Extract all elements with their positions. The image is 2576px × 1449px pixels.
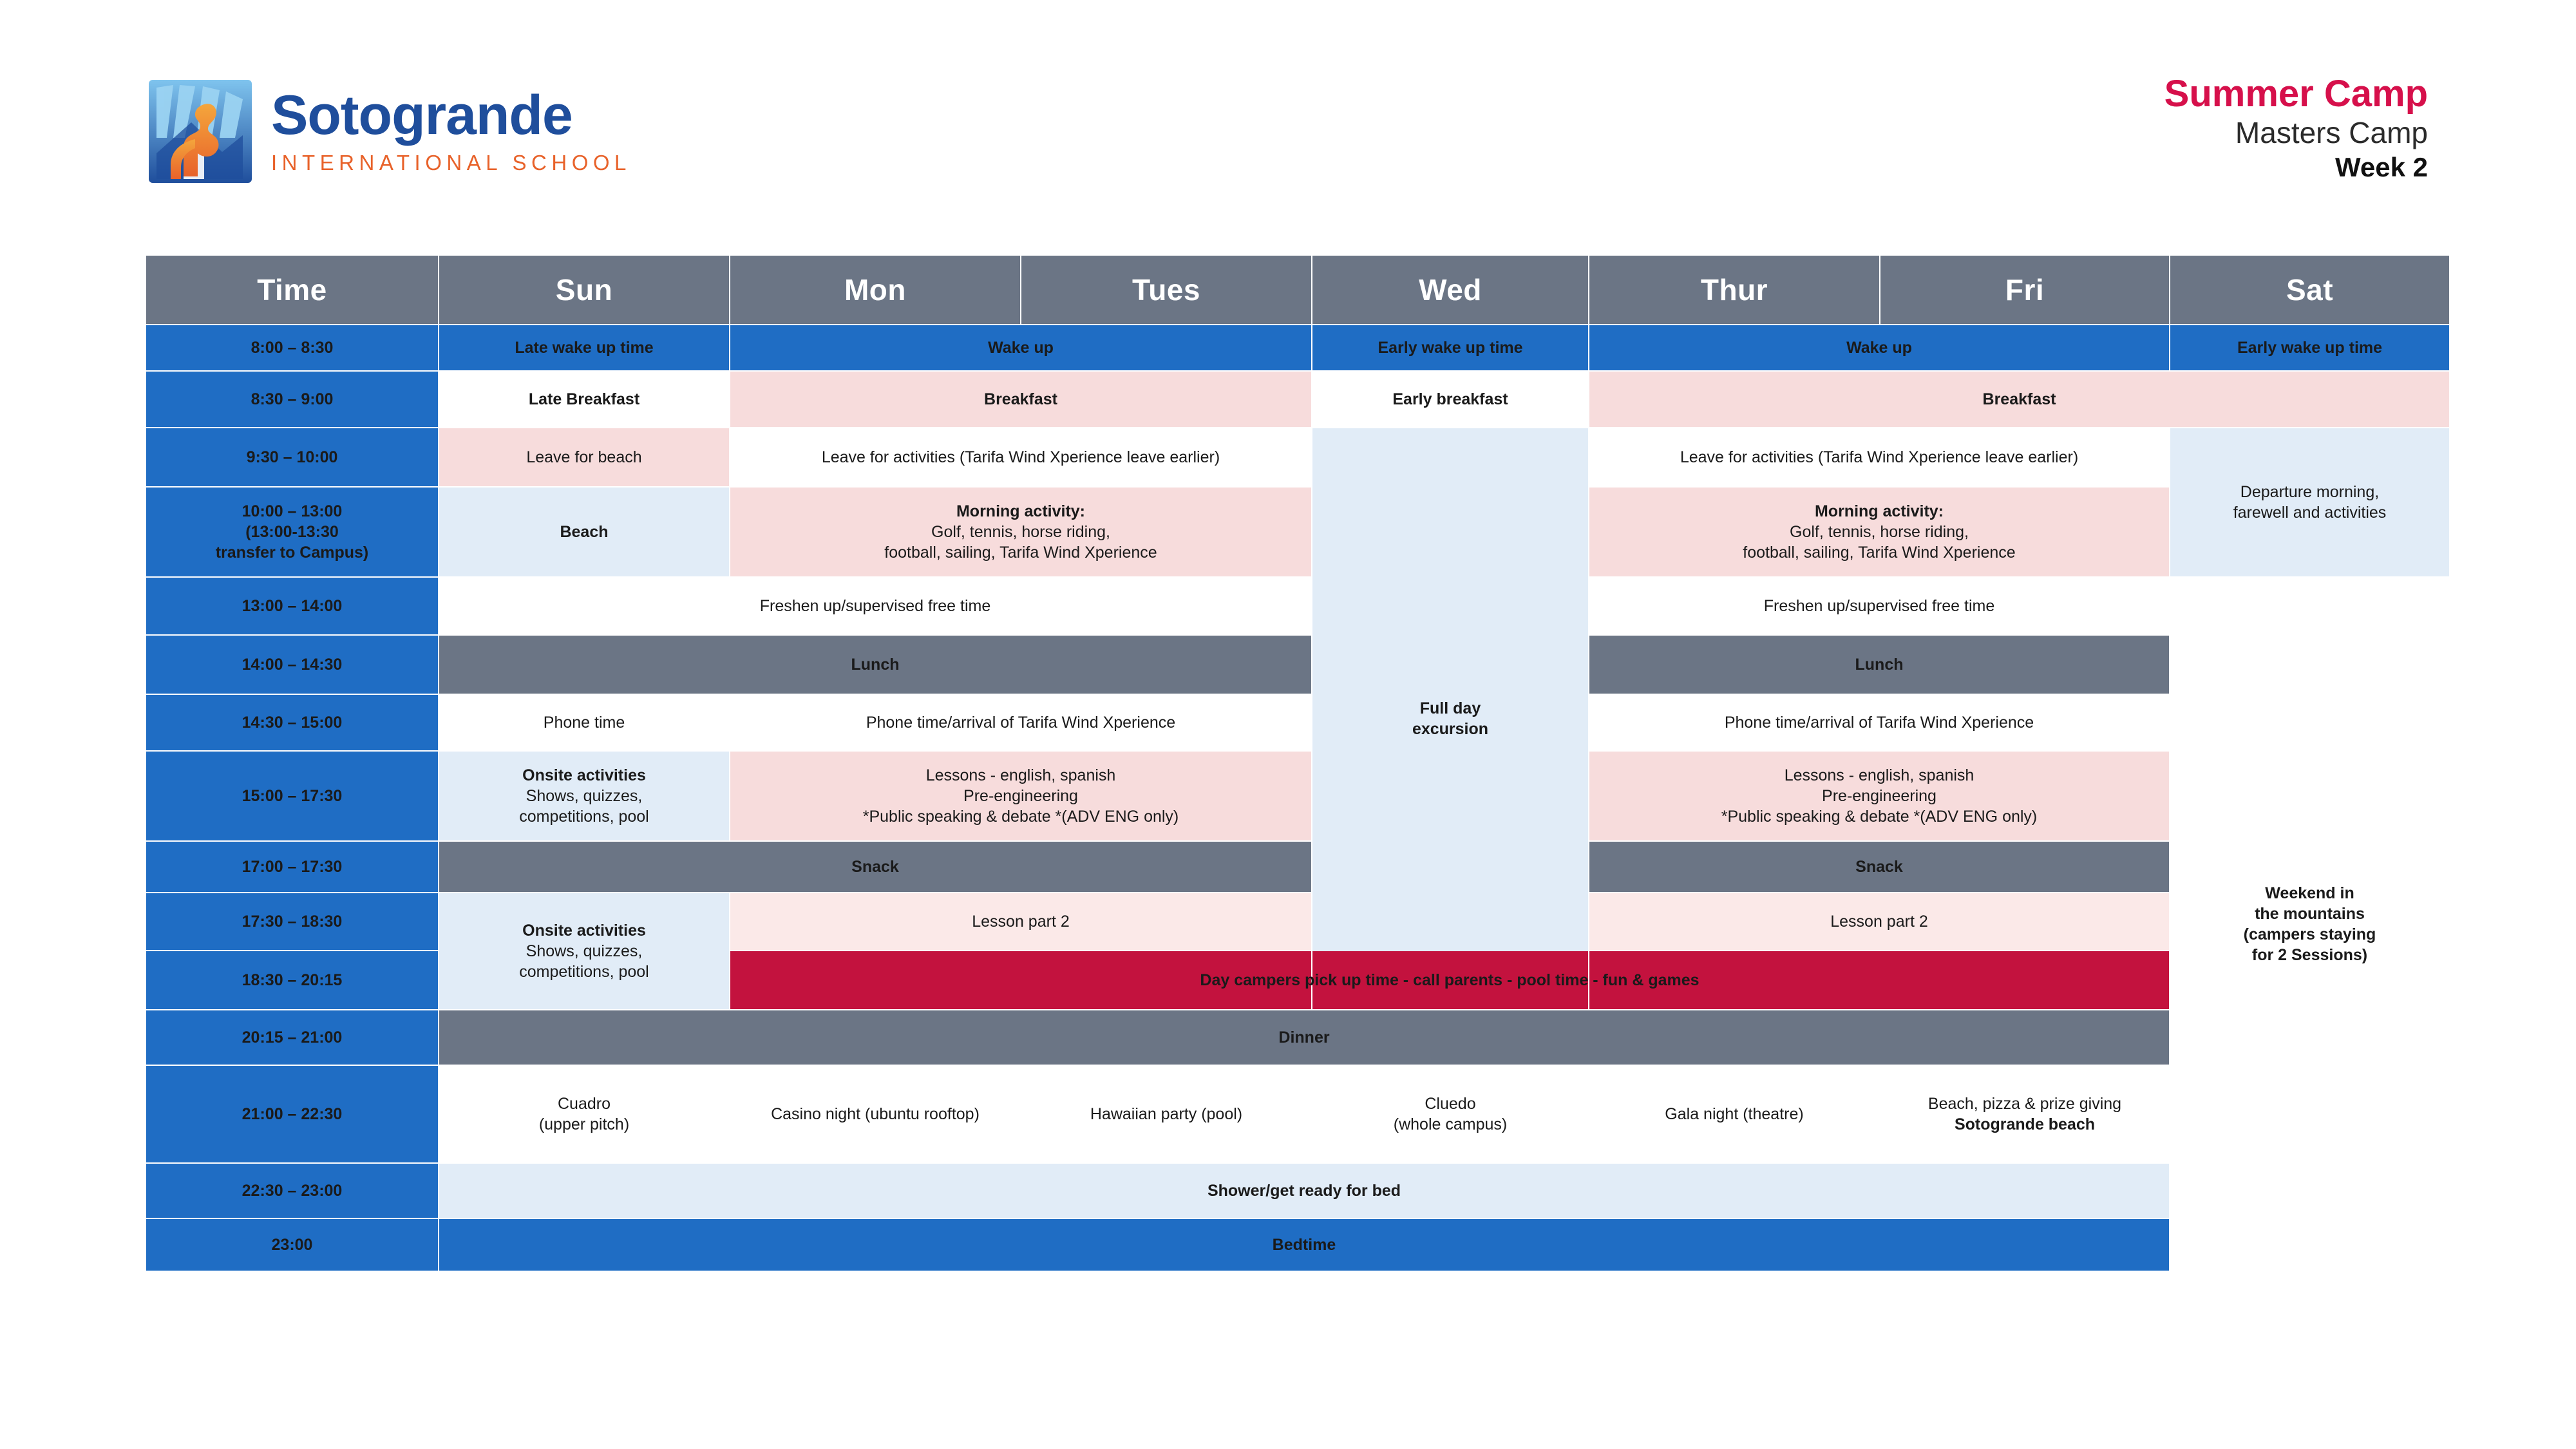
onsite-title: Onsite activities — [444, 765, 724, 786]
cell-wed-wake: Early wake up time — [1312, 325, 1589, 371]
column-header-sun: Sun — [439, 255, 730, 325]
column-header-fri: Fri — [1880, 255, 2170, 325]
cell-thur-fri-freshen: Freshen up/supervised free time — [1589, 577, 2170, 635]
page-title: Summer Camp — [2164, 73, 2428, 115]
cell-sun-tues-lunch: Lunch — [439, 635, 1312, 694]
beach-pizza-line2: Sotogrande beach — [1886, 1114, 2164, 1135]
cell-sat-weekend-mountains: Weekend in the mountains (campers stayin… — [2170, 577, 2450, 1271]
cuadro-line2: (upper pitch) — [444, 1114, 724, 1135]
time-cell: 8:30 – 9:00 — [146, 371, 439, 428]
cell-dinner: Dinner — [439, 1010, 2170, 1065]
cell-sun-tues-snack: Snack — [439, 841, 1312, 893]
morning-activity-line2: Golf, tennis, horse riding, — [735, 522, 1306, 542]
onsite-line3: competitions, pool — [444, 961, 724, 982]
table-row: 20:15 – 21:00 Dinner — [146, 1010, 2450, 1065]
column-header-thur: Thur — [1589, 255, 1880, 325]
cell-sun-tues-freshen: Freshen up/supervised free time — [439, 577, 1312, 635]
cell-thur-fri-lunch: Lunch — [1589, 635, 2170, 694]
cuadro-line1: Cuadro — [444, 1094, 724, 1114]
cell-sun-onsite: Onsite activities Shows, quizzes, compet… — [439, 751, 730, 841]
schedule-page: Sotogrande INTERNATIONAL SCHOOL Summer C… — [0, 0, 2576, 1449]
cell-wed-breakfast: Early breakfast — [1312, 371, 1589, 428]
sat-departure-line2: farewell and activities — [2175, 502, 2444, 523]
cell-thur-fri-phone: Phone time/arrival of Tarifa Wind Xperie… — [1589, 694, 2170, 751]
cell-sun-wake: Late wake up time — [439, 325, 730, 371]
cluedo-line2: (whole campus) — [1318, 1114, 1583, 1135]
cell-mon-casino: Casino night (ubuntu rooftop) — [730, 1065, 1021, 1163]
time-cell: 17:00 – 17:30 — [146, 841, 439, 893]
table-row: 8:00 – 8:30 Late wake up time Wake up Ea… — [146, 325, 2450, 371]
page-header: Sotogrande INTERNATIONAL SCHOOL Summer C… — [145, 70, 2428, 211]
cell-thur-fri-lesson-part2: Lesson part 2 — [1589, 893, 2170, 951]
morning-activity-title: Morning activity: — [1595, 501, 2164, 522]
time-cell: 21:00 – 22:30 — [146, 1065, 439, 1163]
cell-mon-tues-leave: Leave for activities (Tarifa Wind Xperie… — [730, 428, 1312, 487]
lessons-line1: Lessons - english, spanish — [735, 765, 1306, 786]
cell-thur-sat-breakfast: Breakfast — [1589, 371, 2450, 428]
cell-sun-cuadro: Cuadro (upper pitch) — [439, 1065, 730, 1163]
table-row: 22:30 – 23:00 Shower/get ready for bed — [146, 1163, 2450, 1218]
cell-mon-tues-phone: Phone time/arrival of Tarifa Wind Xperie… — [730, 694, 1312, 751]
table-row: 23:00 Bedtime — [146, 1218, 2450, 1271]
column-header-tues: Tues — [1021, 255, 1312, 325]
cell-thur-fri-lessons: Lessons - english, spanish Pre-engineeri… — [1589, 751, 2170, 841]
column-header-time: Time — [146, 255, 439, 325]
time-cell: 13:00 – 14:00 — [146, 577, 439, 635]
time-cell: 9:30 – 10:00 — [146, 428, 439, 487]
cell-fri-beach-pizza: Beach, pizza & prize giving Sotogrande b… — [1880, 1065, 2170, 1163]
time-cell: 22:30 – 23:00 — [146, 1163, 439, 1218]
morning-activity-line3: football, sailing, Tarifa Wind Xperience — [1595, 542, 2164, 563]
table-row: 14:00 – 14:30 Lunch Lunch — [146, 635, 2450, 694]
time-cell: 14:00 – 14:30 — [146, 635, 439, 694]
cell-day-campers-pickup: Day campers pick up time - call parents … — [730, 951, 2170, 1010]
cell-mon-tues-lessons: Lessons - english, spanish Pre-engineeri… — [730, 751, 1312, 841]
cell-mon-tues-lesson-part2: Lesson part 2 — [730, 893, 1312, 951]
table-row: 21:00 – 22:30 Cuadro (upper pitch) Casin… — [146, 1065, 2450, 1163]
cell-thur-fri-wake: Wake up — [1589, 325, 2170, 371]
cell-sun-beach: Beach — [439, 487, 730, 577]
school-tagline: INTERNATIONAL SCHOOL — [271, 151, 631, 175]
table-row: 14:30 – 15:00 Phone time Phone time/arri… — [146, 694, 2450, 751]
cell-thur-fri-morning-activity: Morning activity: Golf, tennis, horse ri… — [1589, 487, 2170, 577]
table-row: 17:00 – 17:30 Snack Snack — [146, 841, 2450, 893]
table-row: 8:30 – 9:00 Late Breakfast Breakfast Ear… — [146, 371, 2450, 428]
table-header-row: Time Sun Mon Tues Wed Thur Fri Sat — [146, 255, 2450, 325]
cell-shower: Shower/get ready for bed — [439, 1163, 2170, 1218]
beach-pizza-line1: Beach, pizza & prize giving — [1886, 1094, 2164, 1114]
time-cell: 23:00 — [146, 1218, 439, 1271]
table-row: 13:00 – 14:00 Freshen up/supervised free… — [146, 577, 2450, 635]
cell-sat-departure: Departure morning, farewell and activiti… — [2170, 428, 2450, 577]
school-name: Sotogrande — [271, 88, 631, 143]
onsite-line2: Shows, quizzes, — [444, 941, 724, 961]
sotogrande-sunburst-logo-icon — [145, 76, 256, 187]
onsite-line3: competitions, pool — [444, 806, 724, 827]
cell-mon-tues-wake: Wake up — [730, 325, 1312, 371]
sat-departure-line1: Departure morning, — [2175, 482, 2444, 502]
onsite-title: Onsite activities — [444, 920, 724, 941]
table-row: 9:30 – 10:00 Leave for beach Leave for a… — [146, 428, 2450, 487]
morning-activity-title: Morning activity: — [735, 501, 1306, 522]
morning-activity-line2: Golf, tennis, horse riding, — [1595, 522, 2164, 542]
table-row: 10:00 – 13:00 (13:00-13:30 transfer to C… — [146, 487, 2450, 577]
cell-sun-phone: Phone time — [439, 694, 730, 751]
time-line2: (13:00-13:30 — [151, 522, 433, 542]
time-cell-multiline: 10:00 – 13:00 (13:00-13:30 transfer to C… — [146, 487, 439, 577]
time-cell: 15:00 – 17:30 — [146, 751, 439, 841]
week-label: Week 2 — [2164, 151, 2428, 185]
cell-thur-fri-snack: Snack — [1589, 841, 2170, 893]
cell-thur-gala: Gala night (theatre) — [1589, 1065, 1880, 1163]
time-cell: 14:30 – 15:00 — [146, 694, 439, 751]
cell-sat-wake: Early wake up time — [2170, 325, 2450, 371]
table-row: 15:00 – 17:30 Onsite activities Shows, q… — [146, 751, 2450, 841]
cell-sun-leave-beach: Leave for beach — [439, 428, 730, 487]
weekend-line1: Weekend in — [2175, 883, 2444, 904]
lessons-line3: *Public speaking & debate *(ADV ENG only… — [735, 806, 1306, 827]
cell-tues-hawaiian: Hawaiian party (pool) — [1021, 1065, 1312, 1163]
cell-thur-fri-leave: Leave for activities (Tarifa Wind Xperie… — [1589, 428, 2170, 487]
cell-sun-breakfast: Late Breakfast — [439, 371, 730, 428]
column-header-wed: Wed — [1312, 255, 1589, 325]
document-title-block: Summer Camp Masters Camp Week 2 — [2164, 73, 2428, 185]
weekend-line4: for 2 Sessions) — [2175, 945, 2444, 965]
time-cell: 20:15 – 21:00 — [146, 1010, 439, 1065]
cell-mon-tues-morning-activity: Morning activity: Golf, tennis, horse ri… — [730, 487, 1312, 577]
time-cell: 8:00 – 8:30 — [146, 325, 439, 371]
cell-mon-tues-breakfast: Breakfast — [730, 371, 1312, 428]
cell-wed-full-day-excursion: Full day excursion — [1312, 428, 1589, 1010]
time-line3: transfer to Campus) — [151, 542, 433, 563]
time-cell: 17:30 – 18:30 — [146, 893, 439, 951]
table-row: 17:30 – 18:30 Onsite activities Shows, q… — [146, 893, 2450, 951]
weekend-line3: (campers staying — [2175, 924, 2444, 945]
lessons-line1: Lessons - english, spanish — [1595, 765, 2164, 786]
school-wordmark: Sotogrande INTERNATIONAL SCHOOL — [271, 88, 631, 175]
column-header-mon: Mon — [730, 255, 1021, 325]
weekend-line2: the mountains — [2175, 904, 2444, 924]
lessons-line2: Pre-engineering — [735, 786, 1306, 806]
time-line1: 10:00 – 13:00 — [151, 501, 433, 522]
cluedo-line1: Cluedo — [1318, 1094, 1583, 1114]
school-branding: Sotogrande INTERNATIONAL SCHOOL — [145, 76, 631, 187]
full-day-line2: excursion — [1318, 719, 1583, 739]
onsite-line2: Shows, quizzes, — [444, 786, 724, 806]
cell-bedtime: Bedtime — [439, 1218, 2170, 1271]
lessons-line3: *Public speaking & debate *(ADV ENG only… — [1595, 806, 2164, 827]
full-day-line1: Full day — [1318, 698, 1583, 719]
cell-sun-onsite-evening: Onsite activities Shows, quizzes, compet… — [439, 893, 730, 1010]
weekly-schedule-table: Time Sun Mon Tues Wed Thur Fri Sat 8:00 … — [145, 254, 2450, 1272]
time-cell: 18:30 – 20:15 — [146, 951, 439, 1010]
morning-activity-line3: football, sailing, Tarifa Wind Xperience — [735, 542, 1306, 563]
column-header-sat: Sat — [2170, 255, 2450, 325]
lessons-line2: Pre-engineering — [1595, 786, 2164, 806]
cell-wed-cluedo: Cluedo (whole campus) — [1312, 1065, 1589, 1163]
camp-subtitle: Masters Camp — [2164, 115, 2428, 151]
